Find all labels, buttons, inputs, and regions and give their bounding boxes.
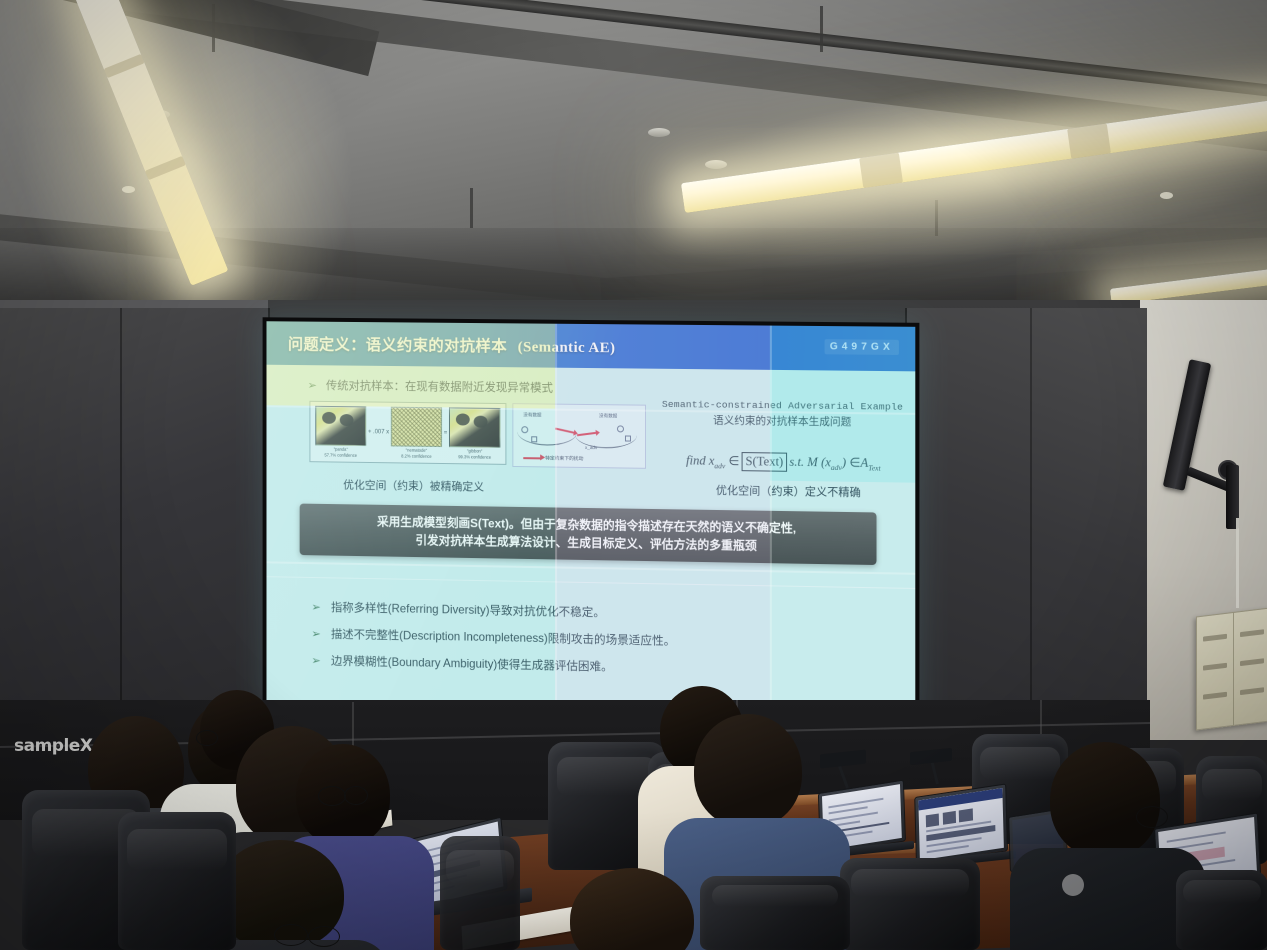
panda-image [315, 406, 366, 446]
list-item-label: 边界模糊性(Boundary Ambiguity)使得生成器评估困难。 [331, 655, 613, 674]
slide-title-en: (Semantic AE) [518, 339, 616, 356]
list-item-label: 指称多样性(Referring Diversity)导致对抗优化不稳定。 [331, 601, 605, 619]
light-hanger [935, 200, 938, 236]
page-title: 问题定义：语义约束的对抗样本 (Semantic AE) [288, 332, 615, 357]
top-bullet-text: 传统对抗样本：在现有数据附近发现异常模式 [326, 380, 553, 394]
attendee-head [1050, 742, 1160, 858]
light-hanger [470, 188, 473, 228]
eyeglasses-icon [318, 786, 346, 806]
slide-title-cn: 问题定义：语义约束的对抗样本 [288, 336, 507, 355]
noise-image [391, 407, 442, 447]
figure-caption: "gibbon" 99.3% confidence [448, 448, 501, 460]
attendee-head [694, 714, 802, 828]
conference-room-photo: 问题定义：语义约束的对抗样本 (Semantic AE) G497GX ➢ 传统… [0, 0, 1267, 950]
eyeglasses-icon [196, 730, 218, 746]
figure-equals-operator: = [444, 430, 447, 436]
chair[interactable] [840, 858, 980, 950]
laptop-screen[interactable] [918, 788, 1004, 860]
section-divider [266, 576, 915, 589]
wall-poster [1196, 607, 1267, 730]
slide-body: ➢ 传统对抗样本：在现有数据附近发现异常模式 "panda" 57.7% con… [266, 365, 915, 718]
problem-formula: find xadv ∈S(Text)s.t. M (xadv) ∈AText [648, 451, 915, 474]
panel-seam [770, 326, 772, 715]
eyeglasses-icon [1136, 806, 1168, 828]
wall-panel-left [0, 308, 270, 708]
bullet-marker-icon: ➢ [311, 654, 321, 667]
panel-seam [555, 324, 557, 710]
challenge-bullet-list: ➢ 指称多样性(Referring Diversity)导致对抗优化不稳定。 ➢… [311, 599, 675, 687]
legend-text: 特定约束下的扰动 [545, 454, 583, 462]
perturbation-diagram: 没有数据 没有数据 x_adv 特定约束下的扰动 [512, 403, 646, 469]
adversarial-example-figure: "panda" 57.7% confidence + .007 x "nemat… [309, 401, 506, 465]
light-hanger [212, 4, 215, 52]
diagram-label-right: 没有数据 [599, 413, 617, 419]
downlight-icon [122, 186, 135, 193]
formula-target-sub: Text [868, 463, 880, 472]
eyeglasses-icon [344, 786, 368, 805]
formula-prefix-sub: adv [714, 461, 725, 470]
legend-arrow-icon [523, 457, 541, 459]
formula-in-2: ∈ [849, 455, 860, 469]
caption-right: 优化空间（约束）定义不精确 [682, 481, 895, 500]
formula-in-1: ∈ [728, 454, 739, 468]
chair[interactable] [440, 836, 520, 950]
list-item-label: 描述不完整性(Description Incompleteness)限制攻击的场… [331, 628, 675, 648]
caption-left: 优化空间（约束）被精确定义 [325, 476, 502, 494]
top-bullet: ➢ 传统对抗样本：在现有数据附近发现异常模式 [307, 377, 552, 396]
formula-target: A [860, 456, 868, 470]
wall-seam [120, 308, 122, 708]
wall-panel-right [905, 308, 1147, 708]
wall-speaker [1170, 360, 1240, 530]
key-message-banner: 采用生成模型刻画S(Text)。但由于复杂数据的指令描述存在天然的语义不确定性,… [300, 504, 877, 565]
figure-caption: "nematode" 8.2% confidence [390, 447, 443, 459]
figure-caption: "panda" 57.7% confidence [314, 446, 367, 458]
list-item: ➢ 指称多样性(Referring Diversity)导致对抗优化不稳定。 [311, 599, 675, 622]
list-item: ➢ 描述不完整性(Description Incompleteness)限制攻击… [311, 625, 675, 648]
light-hanger [820, 6, 823, 52]
downlight-icon [1160, 192, 1173, 199]
slide: 问题定义：语义约束的对抗样本 (Semantic AE) G497GX ➢ 传统… [266, 321, 915, 717]
chair[interactable] [700, 876, 850, 950]
smoke-detector-icon [705, 160, 727, 169]
eyeglasses-icon [308, 926, 340, 947]
list-item: ➢ 边界模糊性(Boundary Ambiguity)使得生成器评估困难。 [311, 652, 675, 676]
figure-image-cell: "gibbon" 99.3% confidence [448, 407, 501, 460]
bullet-marker-icon: ➢ [311, 601, 321, 614]
bullet-marker-icon: ➢ [311, 627, 321, 640]
formula-boxed-term: S(Text) [741, 452, 787, 472]
formula-middle-close: ) [842, 455, 846, 469]
gibbon-image [449, 407, 500, 447]
jacket-logo [1062, 874, 1084, 896]
screen-surface: 问题定义：语义约束的对抗样本 (Semantic AE) G497GX ➢ 传统… [266, 321, 915, 717]
formula-middle-sub: adv [831, 463, 842, 472]
slide-title-bar: 问题定义：语义约束的对抗样本 (Semantic AE) G497GX [266, 321, 915, 371]
formula-prefix: find x [686, 453, 714, 467]
watermark-badge: G497GX [825, 339, 899, 355]
right-heading: Semantic-constrained Adversarial Example… [656, 399, 909, 430]
figure-image-cell: "nematode" 8.2% confidence [390, 407, 443, 460]
figure-image-cell: "panda" 57.7% confidence [314, 406, 367, 459]
diagram-x-label: x_adv [585, 445, 597, 450]
bullet-marker-icon: ➢ [307, 380, 316, 392]
figure-plus-operator: + .007 x [368, 429, 389, 435]
diagram-legend: 特定约束下的扰动 [523, 454, 583, 462]
diagram-label-left: 没有数据 [523, 412, 541, 418]
presentation-screen[interactable]: 问题定义：语义约束的对抗样本 (Semantic AE) G497GX ➢ 传统… [263, 317, 920, 721]
chair[interactable] [1176, 870, 1267, 950]
wall-seam [1030, 308, 1032, 708]
formula-middle: s.t. M (x [789, 455, 831, 470]
speaker-cable [1236, 518, 1239, 608]
eyeglasses-icon [274, 924, 308, 946]
right-heading-cn: 语义约束的对抗样本生成问题 [656, 412, 909, 430]
smoke-detector-icon [648, 128, 670, 137]
chair[interactable] [118, 812, 236, 950]
